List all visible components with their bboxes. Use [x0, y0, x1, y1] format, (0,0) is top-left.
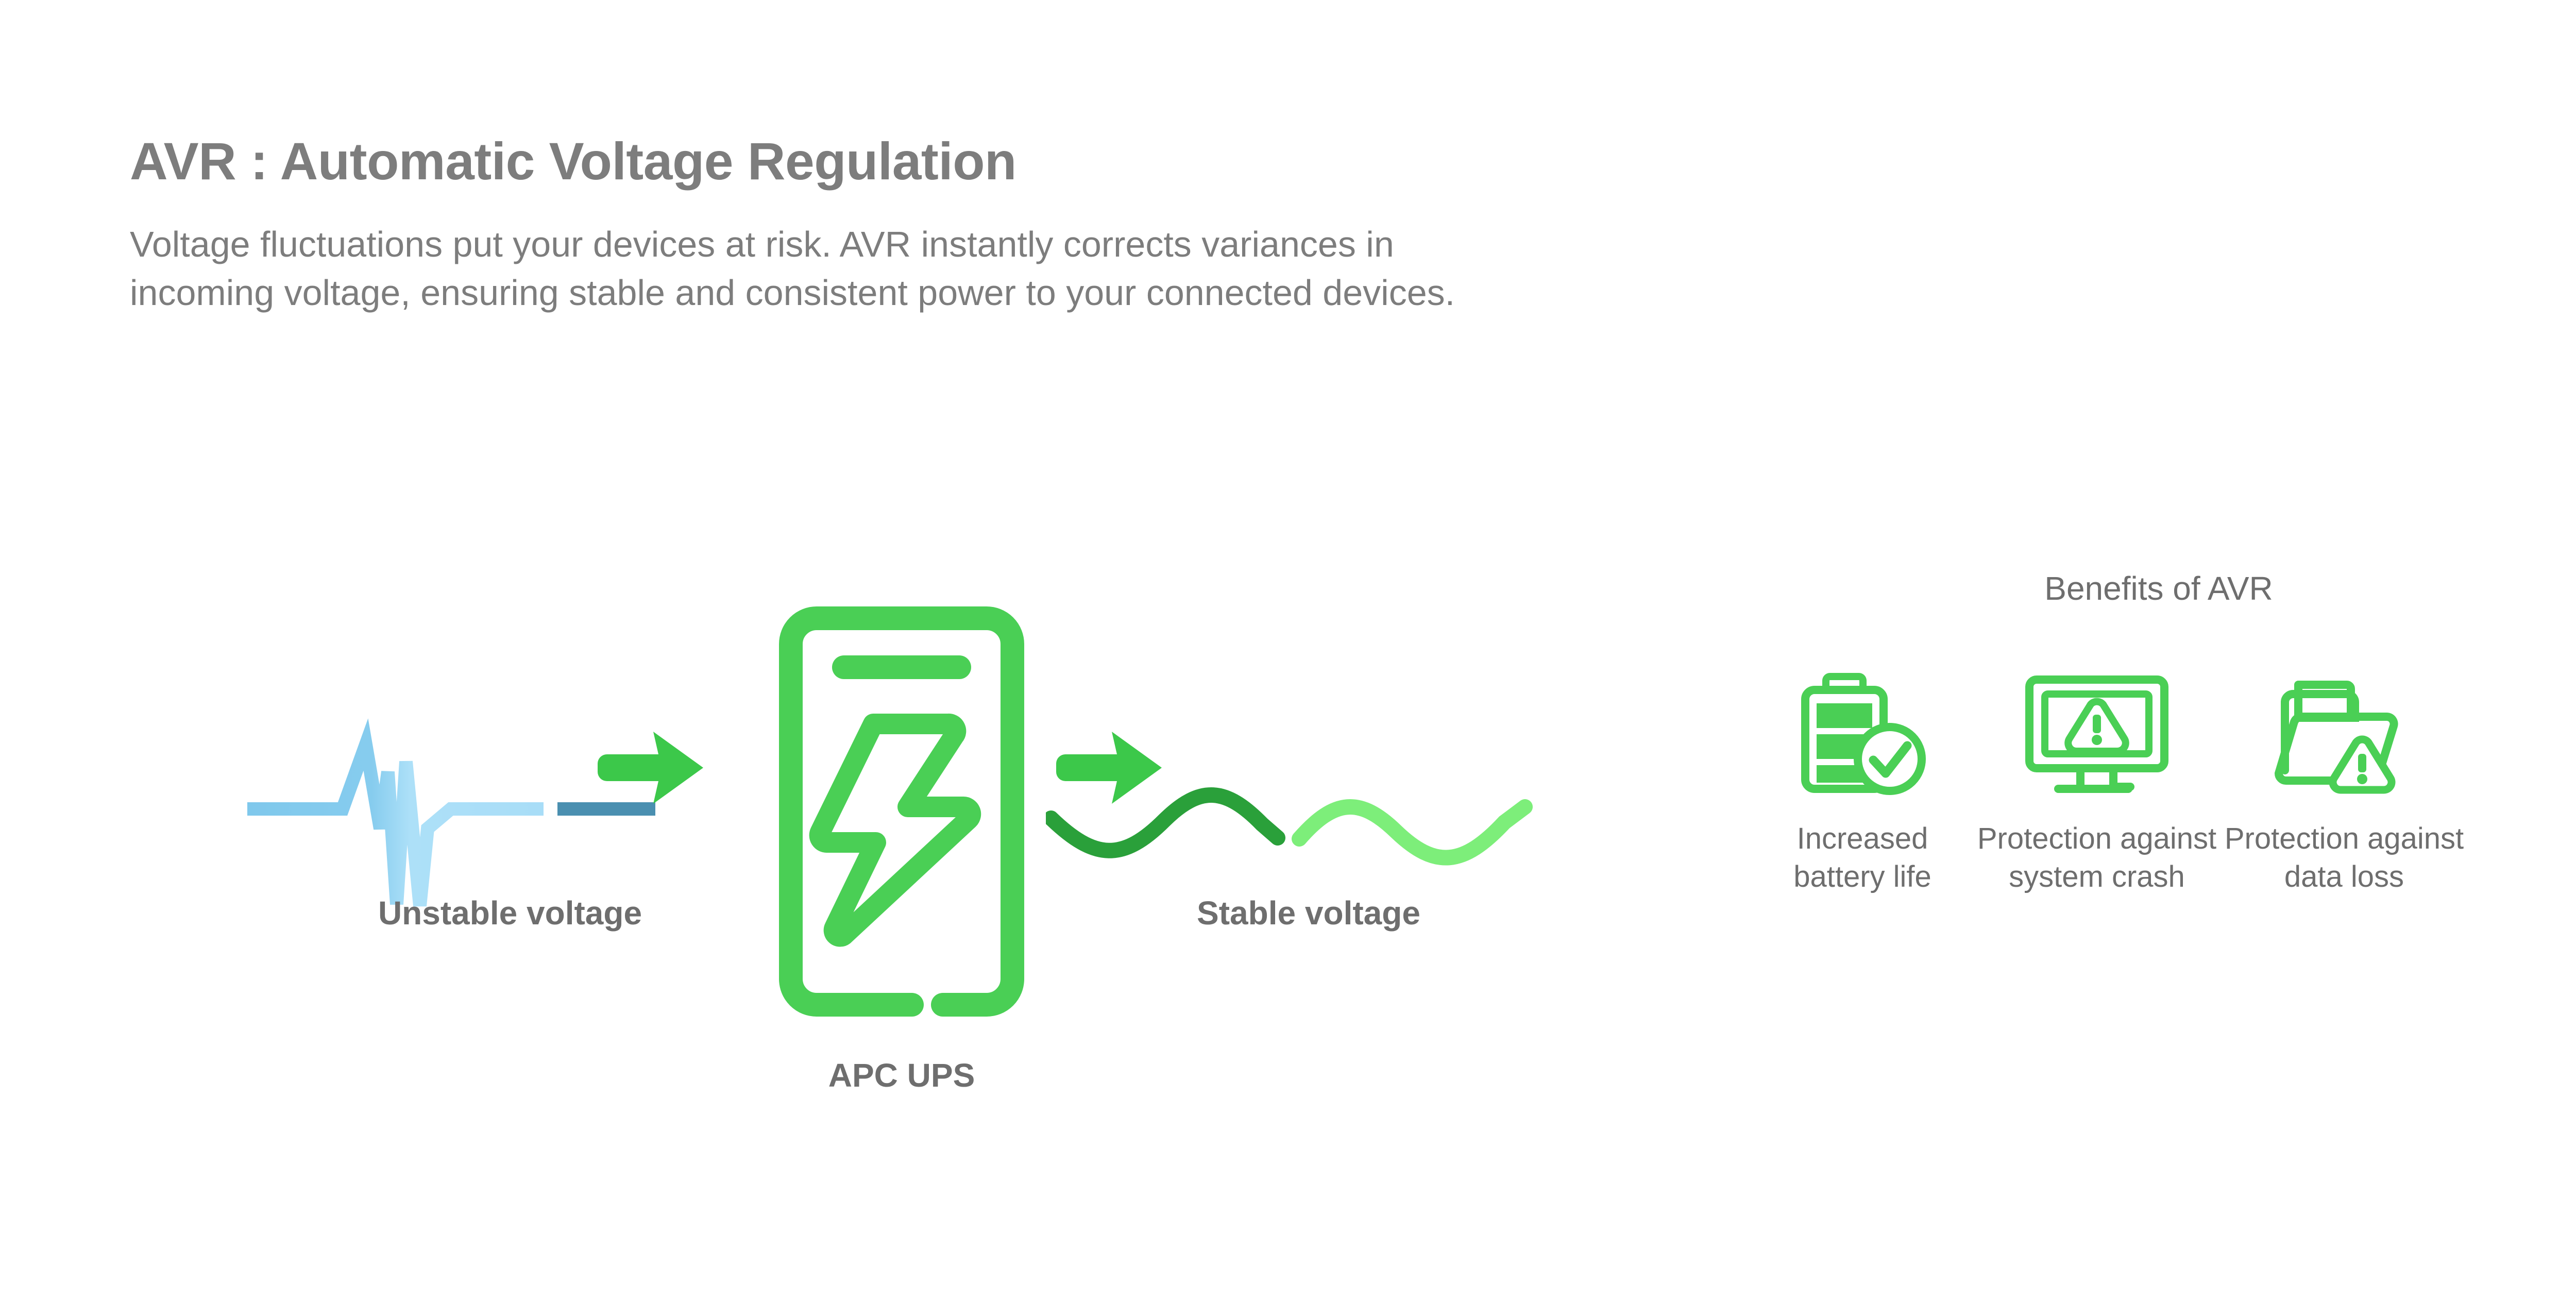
- benefit-label-line-1: Increased: [1793, 820, 1931, 858]
- benefit-label-line-2: data loss: [2225, 858, 2464, 896]
- ups-lightning-icon: [773, 598, 1030, 1025]
- benefit-item-data-loss: Protection against data loss: [2221, 678, 2468, 896]
- unstable-voltage-group: [242, 701, 778, 917]
- benefit-label: Protection against data loss: [2225, 820, 2464, 896]
- page-title: AVR : Automatic Voltage Regulation: [130, 131, 2576, 192]
- subtitle-line-1: Voltage fluctuations put your devices at…: [130, 221, 2371, 269]
- benefit-label-line-1: Protection against: [2225, 820, 2464, 858]
- monitor-warning-icon: [2022, 672, 2172, 796]
- page-subtitle: Voltage fluctuations put your devices at…: [130, 192, 2371, 317]
- battery-check-icon: [1793, 672, 1932, 796]
- stable-sine-wave-icon: [1046, 701, 1592, 917]
- benefits-section: Benefits of AVR: [1752, 546, 2576, 1061]
- benefit-label: Protection against system crash: [1977, 820, 2216, 896]
- header: AVR : Automatic Voltage Regulation Volta…: [130, 131, 2576, 317]
- unstable-waveform-icon: [242, 701, 778, 917]
- benefit-label-line-2: system crash: [1977, 858, 2216, 896]
- benefit-icon-wrap: [2022, 678, 2172, 796]
- benefit-label-line-1: Protection against: [1977, 820, 2216, 858]
- benefits-title: Benefits of AVR: [1752, 569, 2566, 607]
- arrow-right-icon: [1056, 732, 1162, 804]
- infographic-canvas: AVR : Automatic Voltage Regulation Volta…: [0, 0, 2576, 1301]
- benefit-icon-wrap: [1793, 678, 1932, 796]
- ups-device-label: APC UPS: [721, 1056, 1082, 1094]
- benefit-label: Increased battery life: [1793, 820, 1931, 896]
- stable-voltage-label: Stable voltage: [1051, 894, 1566, 932]
- benefit-label-line-2: battery life: [1793, 858, 1931, 896]
- benefit-item-system-crash: Protection against system crash: [1973, 678, 2221, 896]
- unstable-voltage-label: Unstable voltage: [242, 894, 778, 932]
- folder-warning-icon: [2269, 672, 2419, 796]
- stable-voltage-group: [1046, 701, 1592, 917]
- benefits-list: Increased battery life: [1752, 678, 2576, 896]
- arrow-right-icon: [598, 732, 703, 804]
- benefit-icon-wrap: [2269, 678, 2419, 796]
- benefit-item-battery: Increased battery life: [1752, 678, 1973, 896]
- subtitle-line-2: incoming voltage, ensuring stable and co…: [130, 269, 2371, 317]
- ups-device-group: [757, 598, 1046, 1113]
